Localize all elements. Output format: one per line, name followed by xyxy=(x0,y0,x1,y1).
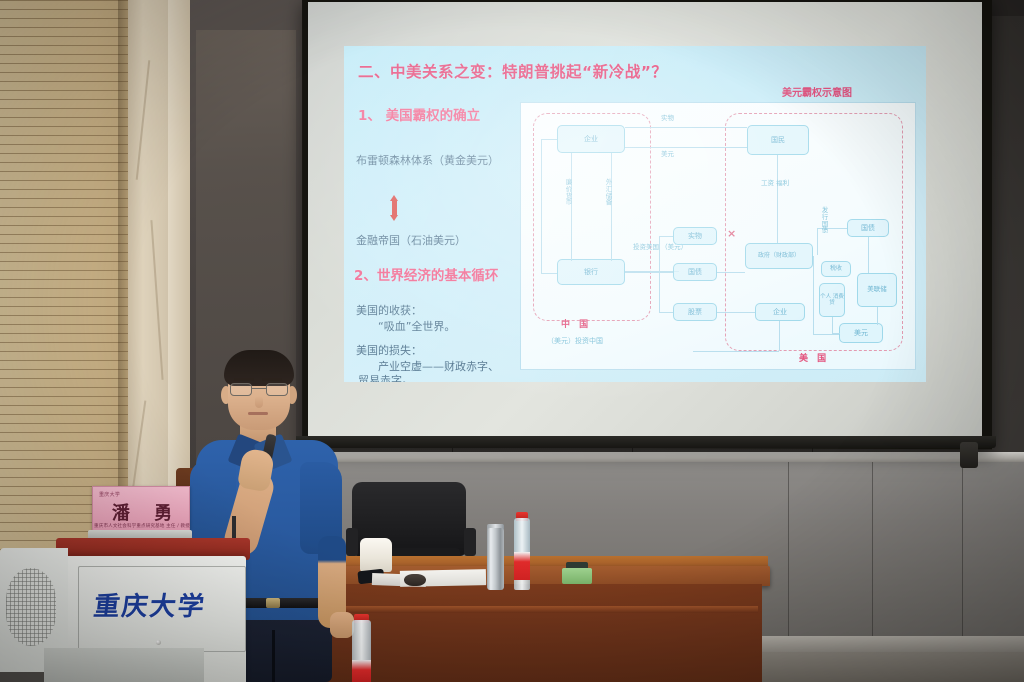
node-currency-swap: 个人 消费贷 xyxy=(819,283,845,317)
nameplate-subtitle: 重庆市人文社会科学重点研究基地 主任 / 教授 xyxy=(93,523,191,529)
node-stocks: 股票 xyxy=(673,303,717,321)
screen-roller xyxy=(296,436,996,448)
edge-label-invest-cn: （美元）投资中国 xyxy=(547,337,603,345)
office-chair-arm-right xyxy=(464,528,476,556)
desk-front-panel xyxy=(326,584,762,682)
lecture-hall-photo: 二、中美关系之变：特朗普挑起“新冷战”？ 美元霸权示意图 1、 美国霸权的确立 … xyxy=(0,0,1024,682)
nameplate-name: 潘 勇 xyxy=(93,499,191,525)
node-enterprise-us: 企业 xyxy=(755,303,805,321)
diagram-caption: 美元霸权示意图 xyxy=(782,84,852,99)
podium-university-name: 重庆大学 xyxy=(92,586,209,623)
node-fed: 美联储 xyxy=(857,273,897,307)
x-mark-icon: × xyxy=(727,227,736,240)
wall-rail xyxy=(302,452,1024,462)
slide-bullet-b2: 金融帝国（石油美元） xyxy=(356,232,466,248)
slide-bullet-b1: 布雷顿森林体系（黄金美元） xyxy=(356,152,499,168)
node-bonds-mid: 国债 xyxy=(673,263,717,281)
edge-label-wages: 工资 福利 xyxy=(761,179,789,187)
up-down-arrow-icon xyxy=(390,195,399,221)
nameplate-logo: 重庆大学 xyxy=(99,491,120,498)
desk-molding xyxy=(330,606,758,613)
slide-title: 二、中美关系之变：特朗普挑起“新冷战”？ xyxy=(358,60,667,82)
slide-bullet-b3: 美国的收获： xyxy=(356,302,422,318)
eyeglasses-icon xyxy=(230,383,288,396)
node-citizens-us: 国民 xyxy=(747,125,809,155)
screen-roller-knob[interactable] xyxy=(960,442,978,468)
slide-bullet-b7: 贸易赤字。 xyxy=(358,372,413,382)
speaker-right-hand xyxy=(330,612,354,638)
slide-bullet-h1: 1、 美国霸权的确立 xyxy=(358,104,480,124)
node-tax: 税收 xyxy=(821,261,851,277)
acoustic-slat-panel xyxy=(0,0,128,560)
desk-nameplate: 重庆大学 潘 勇 重庆市人文社会科学重点研究基地 主任 / 教授 xyxy=(92,486,190,534)
node-usd: 美元 xyxy=(839,323,883,343)
edge-label-issue-bond: 发行国债 xyxy=(821,207,829,234)
node-government: 政府（财政部） xyxy=(745,243,813,269)
office-chair-arm-left xyxy=(346,528,358,556)
presentation-slide: 二、中美关系之变：特朗普挑起“新冷战”？ 美元霸权示意图 1、 美国霸权的确立 … xyxy=(344,46,926,382)
node-bank-cn: 银行 xyxy=(557,259,625,285)
region-label-usa: 美 国 xyxy=(799,351,829,364)
thermos-flask xyxy=(487,528,504,590)
slide-bullet-b4: “吸血”全世界。 xyxy=(378,318,455,334)
region-label-china: 中 国 xyxy=(561,317,591,330)
node-enterprise-cn: 企业 xyxy=(557,125,625,153)
edge-label-usd-flow: 美元 xyxy=(661,151,674,159)
edge-label-forex-reserve: 外汇储备 xyxy=(605,179,613,206)
podium-base xyxy=(44,648,204,682)
node-treasury-bond: 国债 xyxy=(847,219,889,237)
green-item xyxy=(562,568,592,584)
desk-object-dark xyxy=(404,574,426,586)
node-goods-us: 实物 xyxy=(673,227,717,245)
tissue-box xyxy=(360,538,392,572)
slide-bullet-h2: 2、世界经济的基本循环 xyxy=(354,264,498,284)
usd-hegemony-diagram: 中 国 美 国 企业 银行 廉价 货币 外汇储备 实物 美元 国民 工资 福利 xyxy=(520,102,916,370)
speaker-grille xyxy=(6,568,56,646)
speaker-belt-buckle xyxy=(266,598,280,608)
slide-bullet-b5: 美国的损失： xyxy=(356,342,422,358)
water-bottle-label xyxy=(514,552,530,580)
edge-label-cheap-goods: 廉价 货币 xyxy=(565,179,573,206)
edge-label-goods-flow: 实物 xyxy=(661,115,674,123)
